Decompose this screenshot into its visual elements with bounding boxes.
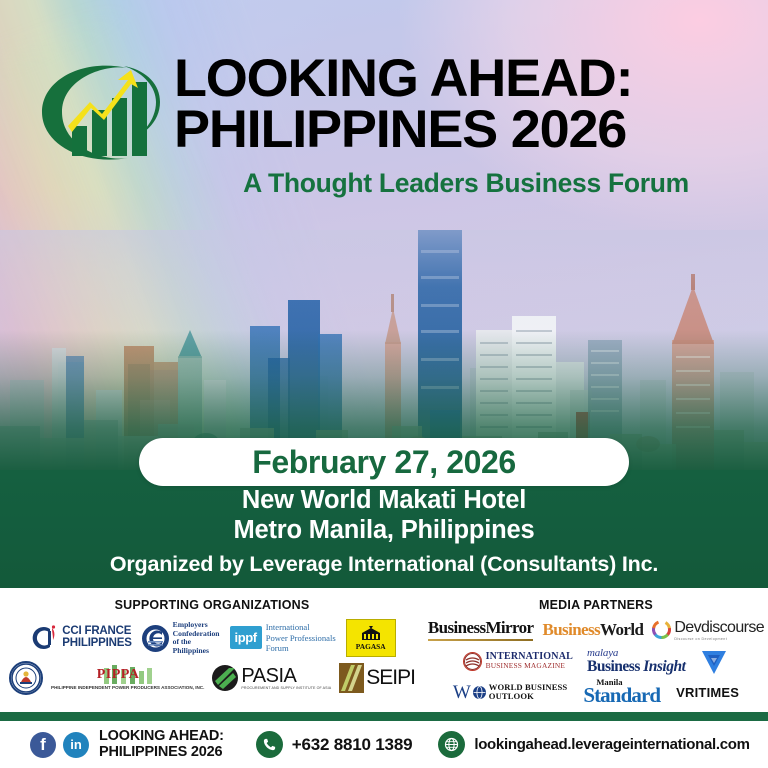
media-logos-row-2: INTERNATIONAL BUSINESS MAGAZINE malaya B… bbox=[424, 646, 768, 676]
supporting-logos-row-1: CCI FRANCE PHILIPPINES bbox=[0, 619, 424, 657]
logo-malaya-business-insight: malaya Business Insight bbox=[587, 648, 685, 675]
pippa-wordmark-wrap: PIPPA bbox=[90, 665, 166, 684]
seipi-wordmark: SEIPI bbox=[366, 666, 415, 690]
devdiscourse-tagline: Discourse on Development bbox=[674, 637, 764, 641]
pagasa-emblem-icon bbox=[358, 626, 384, 641]
logo-businessworld: BusinessWorld bbox=[542, 620, 643, 640]
growth-chart-logo-icon bbox=[28, 54, 168, 172]
seipi-icon bbox=[339, 663, 364, 693]
event-date: February 27, 2026 bbox=[252, 444, 516, 481]
international-business-magazine-text: INTERNATIONAL BUSINESS MAGAZINE bbox=[486, 652, 573, 670]
businessmirror-wordmark: BusinessMirror bbox=[428, 618, 534, 638]
cci-france-label: CCI FRANCE PHILIPPINES bbox=[62, 626, 131, 649]
wbo-w-letter: W bbox=[453, 683, 470, 702]
phone-icon bbox=[256, 731, 283, 758]
logo-vritimes: VRITIMES bbox=[676, 685, 739, 700]
globe-icon bbox=[438, 731, 465, 758]
media-partners-heading: MEDIA PARTNERS bbox=[424, 598, 768, 612]
logo-pagasa: PAGASA bbox=[346, 619, 396, 657]
page-title-line-2: PHILIPPINES 2026 bbox=[174, 105, 762, 156]
logo-devdiscourse: Devdiscourse Discourse on Development bbox=[652, 619, 764, 641]
manila-standard-line-2: Standard bbox=[583, 685, 660, 706]
logo-employers-confederation: Employers Confederation of the Philippin… bbox=[142, 621, 220, 655]
devdiscourse-wordmark: Devdiscourse bbox=[674, 619, 764, 637]
logo-philippine-seal bbox=[9, 661, 43, 695]
devdiscourse-text: Devdiscourse Discourse on Development bbox=[674, 619, 764, 641]
media-partners-section: MEDIA PARTNERS BusinessMirror BusinessWo… bbox=[424, 588, 768, 712]
event-date-badge: February 27, 2026 bbox=[139, 438, 629, 486]
venue-name: New World Makati Hotel bbox=[0, 486, 768, 515]
supporting-logos-row-2: PIPPA PHILIPPINE INDEPENDENT POWER PRODU… bbox=[0, 661, 424, 695]
linkedin-icon[interactable]: in bbox=[63, 732, 89, 758]
businessworld-part-1: Business bbox=[542, 620, 600, 639]
wbo-text: WORLD BUSINESS OUTLOOK bbox=[489, 683, 568, 702]
businessworld-part-2: World bbox=[600, 620, 643, 639]
media-logos-row-3: W WORLD BUSINESS OUTLOOK Manila bbox=[424, 679, 768, 706]
title-block: LOOKING AHEAD: PHILIPPINES 2026 A Though… bbox=[174, 54, 768, 199]
logo-manila-standard: Manila Standard bbox=[583, 679, 660, 706]
pippa-sub-label: PHILIPPINE INDEPENDENT POWER PRODUCERS A… bbox=[51, 685, 204, 691]
pasia-sub-label: PROCUREMENT AND SUPPLY INSTITUTE OF ASIA bbox=[241, 686, 331, 690]
vritimes-mark-icon bbox=[699, 646, 729, 676]
poster-footer: f in LOOKING AHEAD: PHILIPPINES 2026 +63… bbox=[0, 721, 768, 768]
international-business-magazine-icon bbox=[463, 652, 482, 671]
ippf-label: International Power Professionals Forum bbox=[266, 622, 336, 654]
pasia-text: PASIA PROCUREMENT AND SUPPLY INSTITUTE O… bbox=[241, 666, 331, 690]
partners-band: SUPPORTING ORGANIZATIONS CCI FRANCE PHI bbox=[0, 588, 768, 712]
wbo-globe-icon bbox=[473, 686, 486, 699]
ecop-icon bbox=[142, 625, 169, 652]
social-handle: LOOKING AHEAD: PHILIPPINES 2026 bbox=[99, 729, 224, 761]
ecop-label: Employers Confederation of the Philippin… bbox=[173, 621, 220, 655]
logo-world-business-outlook: W WORLD BUSINESS OUTLOOK bbox=[453, 683, 567, 702]
malaya-line-2: Business Insight bbox=[587, 659, 685, 675]
logo-ippf: ippf International Power Professionals F… bbox=[230, 622, 336, 654]
website-contact[interactable]: lookingahead.leverageinternational.com bbox=[438, 731, 749, 758]
pasia-icon bbox=[212, 665, 238, 691]
businessmirror-rule bbox=[428, 639, 534, 641]
logo-international-business-magazine: INTERNATIONAL BUSINESS MAGAZINE bbox=[463, 652, 573, 671]
logo-cci-france-philippines: CCI FRANCE PHILIPPINES bbox=[28, 623, 131, 653]
pagasa-label: PAGASA bbox=[356, 642, 386, 651]
manila-standard-line-1: Manila bbox=[596, 678, 622, 686]
pasia-wordmark: PASIA bbox=[241, 666, 331, 686]
logo-pippa: PIPPA PHILIPPINE INDEPENDENT POWER PRODU… bbox=[51, 665, 204, 691]
devdiscourse-icon bbox=[652, 620, 671, 639]
phone-number: +632 8810 1389 bbox=[292, 735, 413, 755]
supporting-organizations-heading: SUPPORTING ORGANIZATIONS bbox=[0, 598, 424, 612]
pippa-wordmark: PIPPA bbox=[97, 667, 140, 683]
page-title-line-1: LOOKING AHEAD: bbox=[174, 54, 762, 105]
page-subtitle: A Thought Leaders Business Forum bbox=[174, 168, 750, 199]
venue-location: Metro Manila, Philippines bbox=[0, 516, 768, 545]
footer-divider bbox=[0, 712, 768, 721]
event-poster: LOOKING AHEAD: PHILIPPINES 2026 A Though… bbox=[0, 0, 768, 768]
phone-contact[interactable]: +632 8810 1389 bbox=[256, 731, 413, 758]
ibm-line-2: BUSINESS MAGAZINE bbox=[486, 662, 573, 670]
ippf-abbr: ippf bbox=[230, 626, 262, 649]
logo-pasia: PASIA PROCUREMENT AND SUPPLY INSTITUTE O… bbox=[212, 665, 331, 691]
poster-header: LOOKING AHEAD: PHILIPPINES 2026 A Though… bbox=[0, 54, 768, 199]
logo-businessmirror: BusinessMirror bbox=[428, 618, 534, 641]
organizer-line: Organized by Leverage International (Con… bbox=[0, 552, 768, 577]
logo-seipi: SEIPI bbox=[339, 663, 415, 693]
supporting-organizations-section: SUPPORTING ORGANIZATIONS CCI FRANCE PHI bbox=[0, 588, 424, 712]
facebook-icon[interactable]: f bbox=[30, 732, 56, 758]
cci-france-icon bbox=[28, 623, 58, 653]
website-url: lookingahead.leverageinternational.com bbox=[474, 736, 749, 753]
media-logos-row-1: BusinessMirror BusinessWorld bbox=[424, 618, 768, 641]
